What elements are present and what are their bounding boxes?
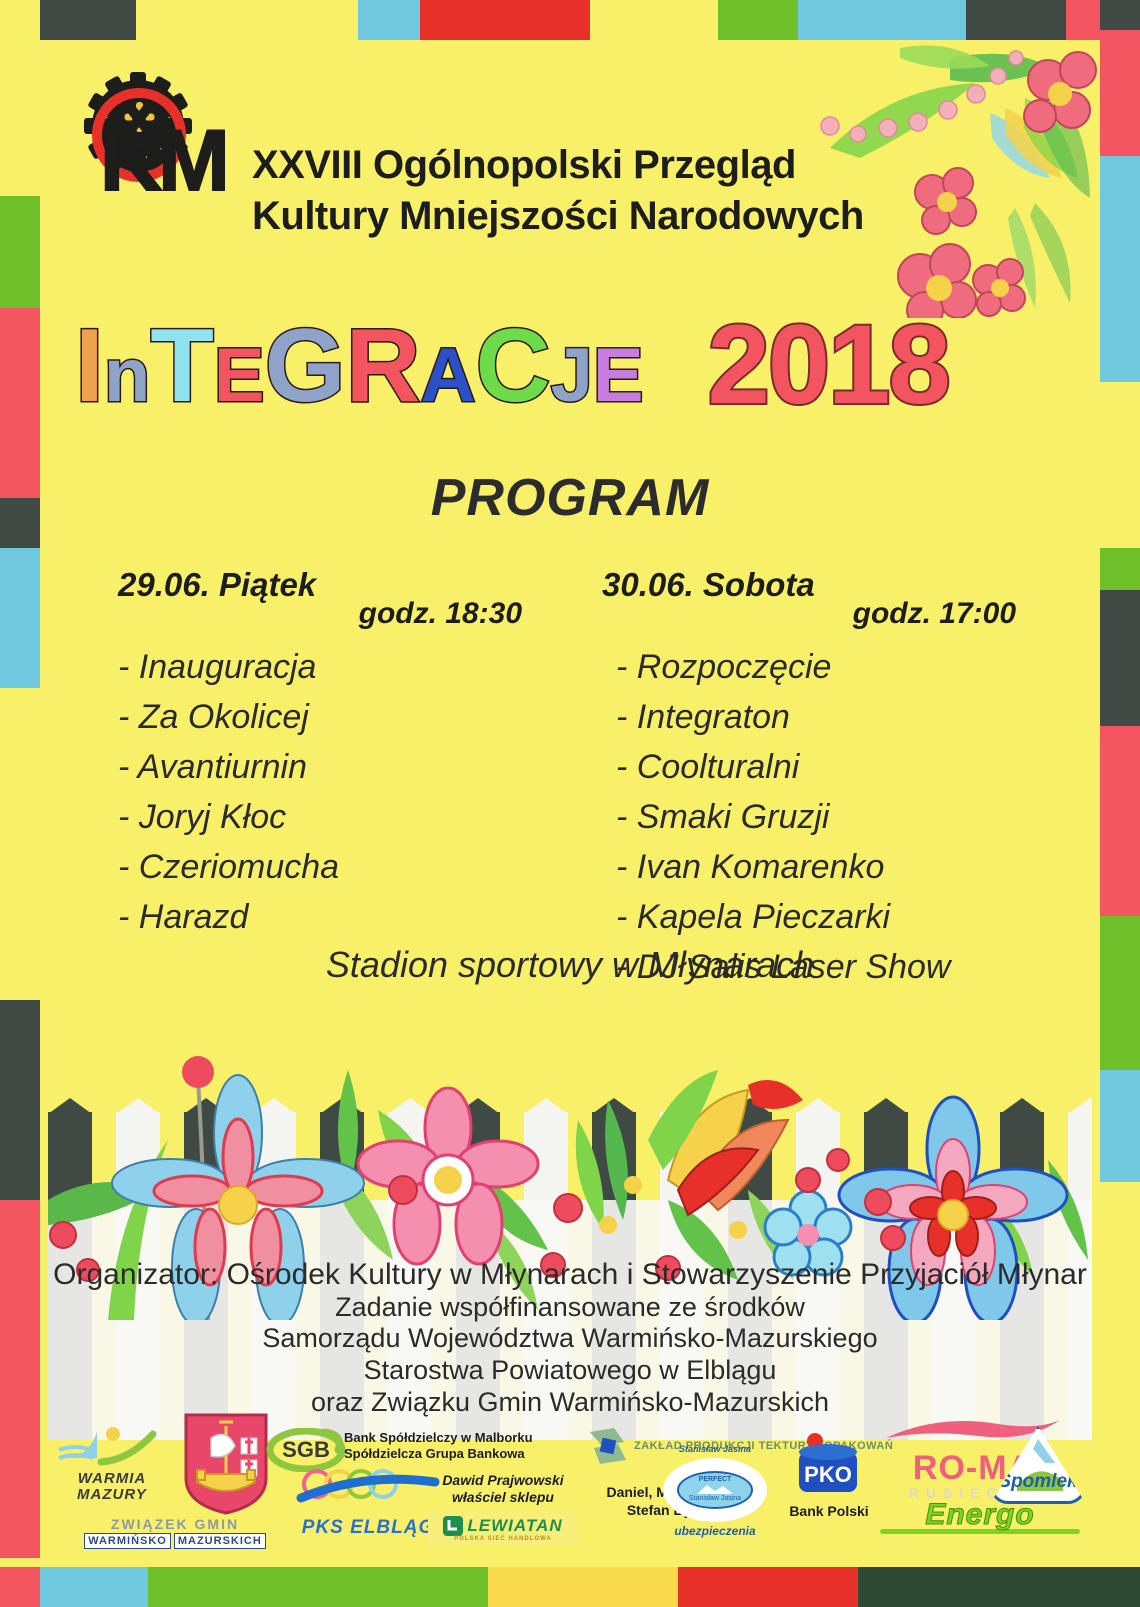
act-item: - Kapela Pieczarki bbox=[602, 893, 1032, 943]
event-year: 2018 bbox=[708, 312, 949, 418]
organizer-line-3: Samorządu Województwa Warmińsko-Mazurski… bbox=[0, 1323, 1140, 1355]
jasina-badge: PERFECT Stanisław Jasina bbox=[663, 1458, 767, 1522]
border-top-block-1 bbox=[40, 0, 136, 40]
act-item: - Inauguracja bbox=[118, 643, 538, 693]
organizer-line-4: Starostwa Powiatowego w Elblągu bbox=[0, 1355, 1140, 1387]
border-right-block-6 bbox=[1100, 726, 1140, 916]
zgwm-top-text: ZWIĄZEK GMIN bbox=[50, 1516, 300, 1532]
border-left-block-4 bbox=[0, 548, 40, 688]
venue-text: Stadion sportowy w Młynarach bbox=[0, 944, 1140, 986]
headline-line-2: Kultury Mniejszości Narodowych bbox=[252, 191, 932, 242]
jasina-mountain-icon bbox=[695, 1483, 735, 1495]
title-letter-4: G bbox=[265, 308, 346, 424]
border-bottom-block-1 bbox=[40, 1567, 148, 1607]
border-top-block-2 bbox=[136, 0, 358, 40]
title-letter-9: E bbox=[593, 333, 644, 418]
pks-text: PKS ELBLĄG bbox=[288, 1517, 448, 1539]
border-right-block-5 bbox=[1100, 590, 1140, 726]
title-letter-1: n bbox=[104, 333, 150, 418]
sponsor-pks-elblag: PKS ELBLĄG bbox=[288, 1468, 448, 1539]
act-item: - Za Okolicej bbox=[118, 693, 538, 743]
act-list-saturday: - Rozpoczęcie- Integraton- Coolturalni- … bbox=[602, 643, 1032, 993]
sponsor-pko-bank-polski: PKO Bank Polski bbox=[774, 1432, 884, 1519]
sponsor-zgwm: ZWIĄZEK GMIN WARMIŃSKO MAZURSKICH bbox=[50, 1516, 300, 1549]
sgb-swoosh-icon: SGB bbox=[266, 1428, 346, 1472]
border-right-block-7 bbox=[1100, 916, 1140, 1070]
title-letter-6: A bbox=[421, 333, 476, 418]
jasina-badge-inner: PERFECT Stanisław Jasina bbox=[677, 1471, 753, 1509]
bank-line-2: Spółdzielcza Grupa Bankowa bbox=[344, 1446, 574, 1462]
border-bottom-block-2 bbox=[148, 1567, 488, 1607]
svg-text:SGB: SGB bbox=[282, 1437, 330, 1462]
border-right-block-0 bbox=[1100, 0, 1140, 30]
jasina-top-text: Stanisław Jasina bbox=[650, 1444, 780, 1454]
spomlek-text: Spomlek bbox=[993, 1471, 1083, 1493]
border-right-block-4 bbox=[1100, 548, 1140, 590]
act-item: - Integraton bbox=[602, 693, 1032, 743]
border-bottom-block-5 bbox=[858, 1567, 1140, 1607]
title-letter-3: E bbox=[214, 333, 265, 418]
sponsor-strip: WARMIA MAZURY ZWIĄZEK GMIN WARMIŃSKO MA bbox=[48, 1412, 1092, 1552]
act-item: - Czeriomucha bbox=[118, 843, 538, 893]
event-title: InTEGRACJE 2018 bbox=[75, 308, 1065, 418]
sponsor-warmia-mazury: WARMIA MAZURY bbox=[52, 1420, 172, 1503]
sponsor-lewiatan: LEWIATAN POLSKA SIEĆ HANDLOWA bbox=[428, 1512, 578, 1546]
prajwowski-line-2: właściel sklepu bbox=[428, 1489, 578, 1506]
border-right-block-1 bbox=[1100, 30, 1140, 156]
lewiatan-subtext: POLSKA SIEĆ HANDLOWA bbox=[434, 1536, 572, 1542]
zgwm-left-text: WARMIŃSKO bbox=[84, 1533, 171, 1549]
border-left-block-6 bbox=[0, 1000, 40, 1200]
jasina-name-text: Stanisław Jasina bbox=[679, 1495, 751, 1502]
sponsor-elblag-coat-of-arms bbox=[176, 1412, 276, 1521]
poster: KM XXVIII Ogólnopolski Przegląd Kultury … bbox=[0, 0, 1140, 1607]
border-left-block-1 bbox=[0, 196, 40, 308]
page-title: XXVIII Ogólnopolski Przegląd Kultury Mni… bbox=[252, 140, 932, 242]
act-item: - Joryj Kłoc bbox=[118, 793, 538, 843]
day-column-saturday: 30.06. Sobota godz. 17:00 - Rozpoczęcie-… bbox=[602, 566, 1032, 1009]
km-logo: KM bbox=[78, 72, 230, 200]
border-bottom-block-0 bbox=[0, 1567, 40, 1607]
organizer-line-1: Organizator: Ośrodek Kultury w Młynarach… bbox=[0, 1258, 1140, 1292]
jasina-perfect-text: PERFECT bbox=[679, 1476, 751, 1483]
border-right-block-8 bbox=[1100, 1070, 1140, 1182]
program-heading: PROGRAM bbox=[0, 468, 1140, 528]
border-top-block-6 bbox=[718, 0, 798, 40]
organizer-block: Organizator: Ośrodek Kultury w Młynarach… bbox=[0, 1258, 1140, 1419]
day-column-friday: 29.06. Piątek godz. 18:30 - Inauguracja-… bbox=[118, 566, 538, 959]
sponsor-prajwowski: Dawid Prajwowski właściel sklepu bbox=[428, 1472, 578, 1506]
title-letter-8: J bbox=[551, 333, 593, 418]
sponsor-bank-spoldzielczy: Bank Spółdzielczy w Malborku Spółdzielcz… bbox=[344, 1430, 574, 1461]
title-letters: InTEGRACJE bbox=[75, 316, 644, 418]
act-item: - Coolturalni bbox=[602, 743, 1032, 793]
pko-subtext: Bank Polski bbox=[774, 1503, 884, 1519]
act-item: - Smaki Gruzji bbox=[602, 793, 1032, 843]
warmia-sail-icon bbox=[57, 1420, 167, 1466]
border-right-block-2 bbox=[1100, 156, 1140, 382]
act-list-friday: - Inauguracja- Za Okolicej- Avantiurnin-… bbox=[118, 643, 538, 943]
headline-line-1: XXVIII Ogólnopolski Przegląd bbox=[252, 140, 932, 191]
pko-text: PKO bbox=[804, 1462, 852, 1487]
act-item: - Rozpoczęcie bbox=[602, 643, 1032, 693]
act-item: - Avantiurnin bbox=[118, 743, 538, 793]
sponsor-stanislaw-jasina: Stanisław Jasina PERFECT Stanisław Jasin… bbox=[650, 1446, 780, 1522]
border-top-block-5 bbox=[590, 0, 718, 40]
km-logo-text: KM bbox=[100, 118, 226, 204]
zgwm-right-text: MAZURSKICH bbox=[174, 1533, 266, 1549]
organizer-line-2: Zadanie współfinansowane ze środków bbox=[0, 1292, 1140, 1324]
sponsor-spomlek: Spomlek bbox=[990, 1426, 1090, 1504]
title-letter-2: T bbox=[150, 308, 214, 424]
border-left-block-0 bbox=[0, 0, 40, 196]
title-letter-0: I bbox=[75, 308, 104, 424]
pko-icon: PKO bbox=[791, 1432, 867, 1498]
act-item: - Ivan Komarenko bbox=[602, 843, 1032, 893]
jasina-bottom-text: ubezpieczenia bbox=[650, 1524, 780, 1538]
border-top-block-3 bbox=[358, 0, 420, 40]
border-bottom-block-3 bbox=[488, 1567, 678, 1607]
pks-rings-icon bbox=[293, 1468, 443, 1512]
act-item: - Harazd bbox=[118, 893, 538, 943]
lewiatan-text: LEWIATAN bbox=[467, 1516, 562, 1536]
title-letter-7: C bbox=[475, 308, 550, 424]
border-top-block-4 bbox=[420, 0, 590, 40]
border-bottom-block-4 bbox=[678, 1567, 858, 1607]
zaklad-mark-icon bbox=[588, 1426, 628, 1466]
spomlek-triangle-icon: Spomlek bbox=[990, 1426, 1086, 1504]
title-letter-5: R bbox=[345, 308, 420, 424]
bank-line-1: Bank Spółdzielczy w Malborku bbox=[344, 1430, 574, 1446]
warmia-line-2: MAZURY bbox=[52, 1487, 172, 1503]
lewiatan-mark-icon bbox=[443, 1516, 463, 1536]
prajwowski-line-1: Dawid Prajwowski bbox=[428, 1472, 578, 1489]
warmia-line-1: WARMIA bbox=[52, 1471, 172, 1487]
coat-of-arms-icon bbox=[183, 1412, 269, 1516]
